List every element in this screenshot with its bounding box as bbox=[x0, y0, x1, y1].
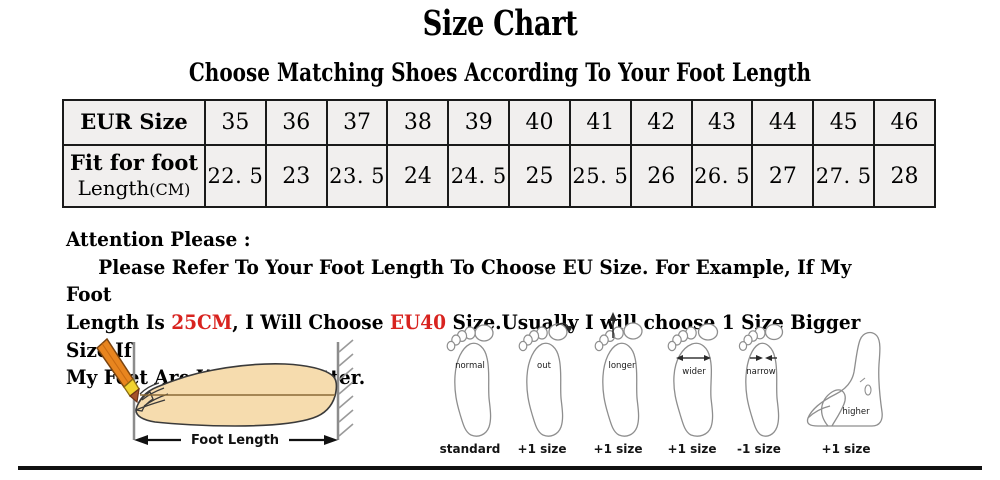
footprint-normal-icon: normal standard bbox=[440, 325, 501, 456]
foot-type-caption: +1 size bbox=[594, 442, 643, 456]
table-row-foot-length: Fit for foot Length(CM) 22. 5 23 23. 5 2… bbox=[64, 146, 934, 206]
bottom-divider bbox=[18, 466, 982, 470]
row-header-foot-length: Fit for foot Length(CM) bbox=[64, 146, 204, 206]
foot-type-label: wider bbox=[682, 367, 706, 377]
foot-length-cell: 25. 5 bbox=[571, 146, 630, 206]
foot-type-guide: normal standard out +1 size long bbox=[432, 308, 892, 463]
foot-type-label: normal bbox=[455, 361, 485, 371]
attention-line-2-text: Please Refer To Your Foot Length To Choo… bbox=[66, 256, 851, 307]
eur-size-cell: 41 bbox=[571, 101, 630, 144]
page-title: Size Chart bbox=[110, 6, 890, 43]
page-subtitle: Choose Matching Shoes According To Your … bbox=[100, 59, 900, 87]
foot-length-cell: 24. 5 bbox=[449, 146, 508, 206]
foot-measurement-diagram: Foot Length bbox=[95, 336, 355, 456]
foot-type-label: longer bbox=[608, 361, 636, 371]
attention-line-2: Please Refer To Your Foot Length To Choo… bbox=[66, 254, 902, 309]
eur-size-cell: 40 bbox=[510, 101, 569, 144]
foot-length-cell: 26. 5 bbox=[693, 146, 752, 206]
row-header-foot-length-line1: Fit for foot bbox=[70, 150, 198, 175]
size-chart-table: EUR Size 35 36 37 38 39 40 41 42 43 44 4… bbox=[62, 99, 936, 208]
footprint-narrow-icon: narrow -1 size bbox=[737, 325, 782, 457]
eur-size-cell: 46 bbox=[875, 101, 934, 144]
foot-length-cell: 25 bbox=[510, 146, 569, 206]
foot-length-cell: 23. 5 bbox=[328, 146, 387, 206]
foot-length-cell: 27 bbox=[753, 146, 812, 206]
footprint-wider-icon: wider +1 size bbox=[668, 324, 718, 456]
foot-length-cell: 23 bbox=[267, 146, 326, 206]
eur-size-cell: 43 bbox=[693, 101, 752, 144]
foot-length-cell: 24 bbox=[388, 146, 447, 206]
foot-type-label: narrow bbox=[746, 367, 775, 377]
row-header-foot-length-line2: Length bbox=[78, 176, 150, 200]
eur-size-cell: 35 bbox=[206, 101, 265, 144]
foot-type-caption: +1 size bbox=[668, 442, 717, 456]
row-header-foot-length-unit: (CM) bbox=[149, 180, 190, 199]
eur-size-cell: 45 bbox=[814, 101, 873, 144]
attention-heading: Attention Please : bbox=[66, 226, 902, 254]
foot-length-cell: 26 bbox=[632, 146, 691, 206]
attention-line-3-text-b: , I Will Choose bbox=[232, 311, 390, 334]
eur-size-cell: 37 bbox=[328, 101, 387, 144]
foot-type-caption: +1 size bbox=[822, 442, 871, 456]
foot-type-label: out bbox=[537, 361, 552, 371]
foot-length-caption: Foot Length bbox=[191, 433, 279, 448]
eur-size-cell: 42 bbox=[632, 101, 691, 144]
eur-size-cell: 36 bbox=[267, 101, 326, 144]
eur-size-cell: 39 bbox=[449, 101, 508, 144]
foot-type-caption: -1 size bbox=[737, 442, 781, 456]
foot-type-label: higher bbox=[842, 407, 870, 417]
foot-length-cell: 28 bbox=[875, 146, 934, 206]
highlight-foot-length: 25CM bbox=[171, 311, 232, 334]
attention-line-3-text-a: Length Is bbox=[66, 311, 171, 334]
pencil-icon bbox=[97, 339, 139, 402]
foot-instep-higher-icon: higher +1 size bbox=[807, 333, 882, 456]
foot-length-cell: 27. 5 bbox=[814, 146, 873, 206]
footprint-bigtoe-out-icon: out +1 size bbox=[518, 324, 573, 456]
foot-side-outline-icon bbox=[136, 364, 336, 426]
foot-type-caption: standard bbox=[440, 442, 501, 456]
row-header-eur-size: EUR Size bbox=[64, 101, 204, 144]
table-row-eur-size: EUR Size 35 36 37 38 39 40 41 42 43 44 4… bbox=[64, 101, 934, 144]
footprint-longer-toe-icon: longer +1 size bbox=[594, 312, 643, 456]
eur-size-cell: 44 bbox=[753, 101, 812, 144]
foot-length-dimension: Foot Length bbox=[134, 431, 338, 449]
foot-type-caption: +1 size bbox=[518, 442, 567, 456]
foot-length-cell: 22. 5 bbox=[206, 146, 265, 206]
eur-size-cell: 38 bbox=[388, 101, 447, 144]
row-header-eur-size-label: EUR Size bbox=[80, 109, 188, 134]
wall-hatch-icon bbox=[338, 340, 353, 440]
